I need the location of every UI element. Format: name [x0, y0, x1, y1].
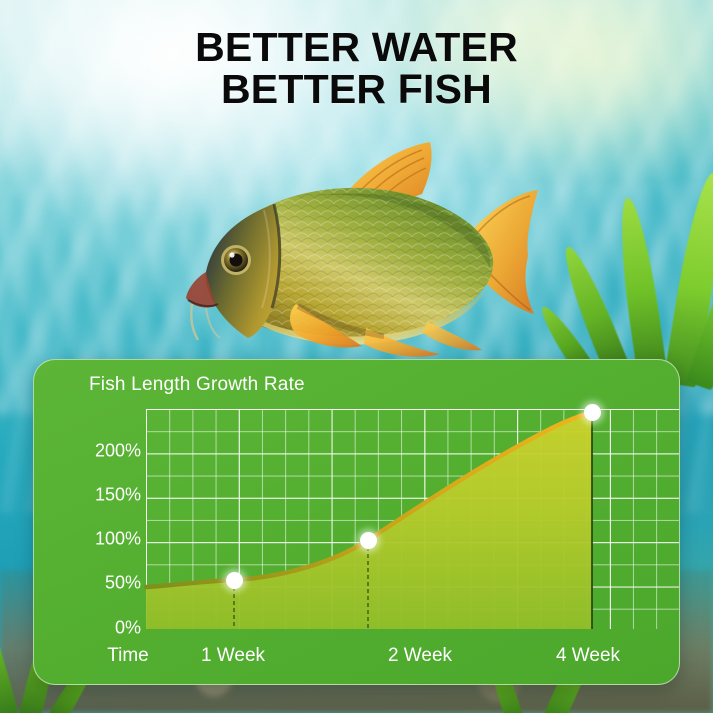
x-tick-2-week: 2 Week — [388, 645, 452, 667]
data-point-1-week[interactable] — [226, 572, 243, 589]
headline-line-1: BETTER WATER — [195, 24, 518, 70]
y-axis-labels: 200% 150% 100% 50% 0% — [33, 359, 141, 685]
x-tick-4-week: 4 Week — [556, 645, 620, 667]
carp-fish-image — [178, 132, 540, 364]
y-tick-100: 100% — [95, 529, 141, 550]
growth-curve — [146, 409, 680, 629]
page-title: BETTER WATER BETTER FISH — [0, 26, 713, 110]
data-point-2-week[interactable] — [360, 532, 377, 549]
chart-plot-area — [146, 409, 680, 629]
data-point-4-week[interactable] — [584, 404, 601, 421]
headline-line-2: BETTER FISH — [0, 68, 713, 110]
x-axis-labels: Time 1 Week 2 Week 4 Week — [0, 645, 713, 675]
y-tick-200: 200% — [95, 441, 141, 462]
x-tick-1-week: 1 Week — [201, 645, 265, 667]
y-tick-150: 150% — [95, 485, 141, 506]
y-tick-0: 0% — [115, 618, 141, 639]
y-tick-50: 50% — [105, 573, 141, 594]
x-axis-title: Time — [107, 645, 149, 667]
product-banner: BETTER WATER BETTER FISH Fish Length Gro… — [0, 0, 713, 713]
